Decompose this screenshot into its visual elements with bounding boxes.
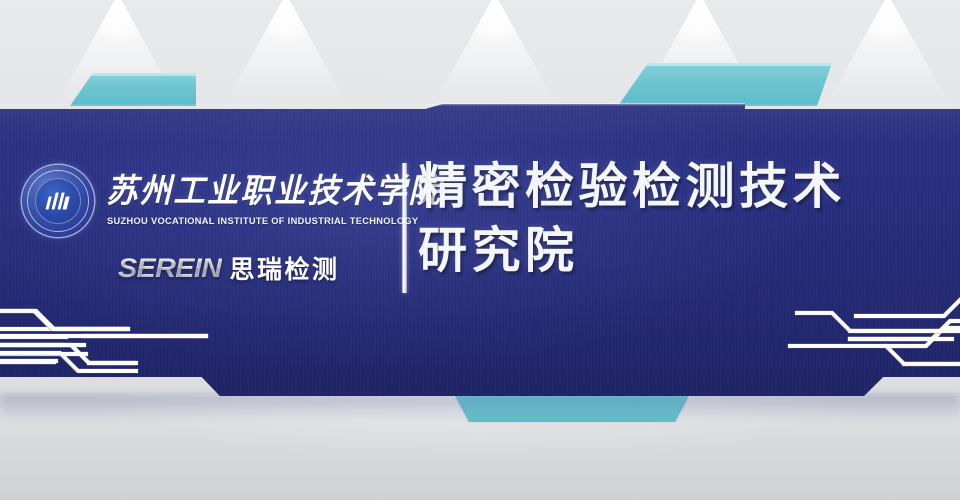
circuit-trace-lines-right	[664, 296, 960, 408]
institute-title: 精密检验检测技术 研究院	[418, 155, 948, 283]
sviit-emblem-icon	[22, 165, 94, 237]
circuit-trace-lines-left	[0, 296, 296, 408]
vertical-divider-rule	[402, 163, 407, 293]
university-name-en: SUZHOU VOCATIONAL INSTITUTE OF INDUSTRIA…	[107, 215, 412, 227]
serein-logo: SEREIN 思瑞检测	[118, 251, 340, 285]
emblem-m-mark	[46, 193, 71, 210]
serein-wordmark: SEREIN	[118, 253, 221, 284]
institute-title-line-2: 研究院	[418, 219, 948, 283]
teal-trapezoid-large	[618, 63, 832, 106]
university-logo-block: 苏州工业职业技术学院 SUZHOU VOCATIONAL INSTITUTE O…	[18, 163, 398, 293]
signage-scene: 苏州工业职业技术学院 SUZHOU VOCATIONAL INSTITUTE O…	[0, 0, 960, 500]
serein-name-cn: 思瑞检测	[230, 250, 340, 286]
university-name-cn: 苏州工业职业技术学院	[106, 169, 394, 213]
institute-title-line-1: 精密检验检测技术	[418, 155, 948, 219]
